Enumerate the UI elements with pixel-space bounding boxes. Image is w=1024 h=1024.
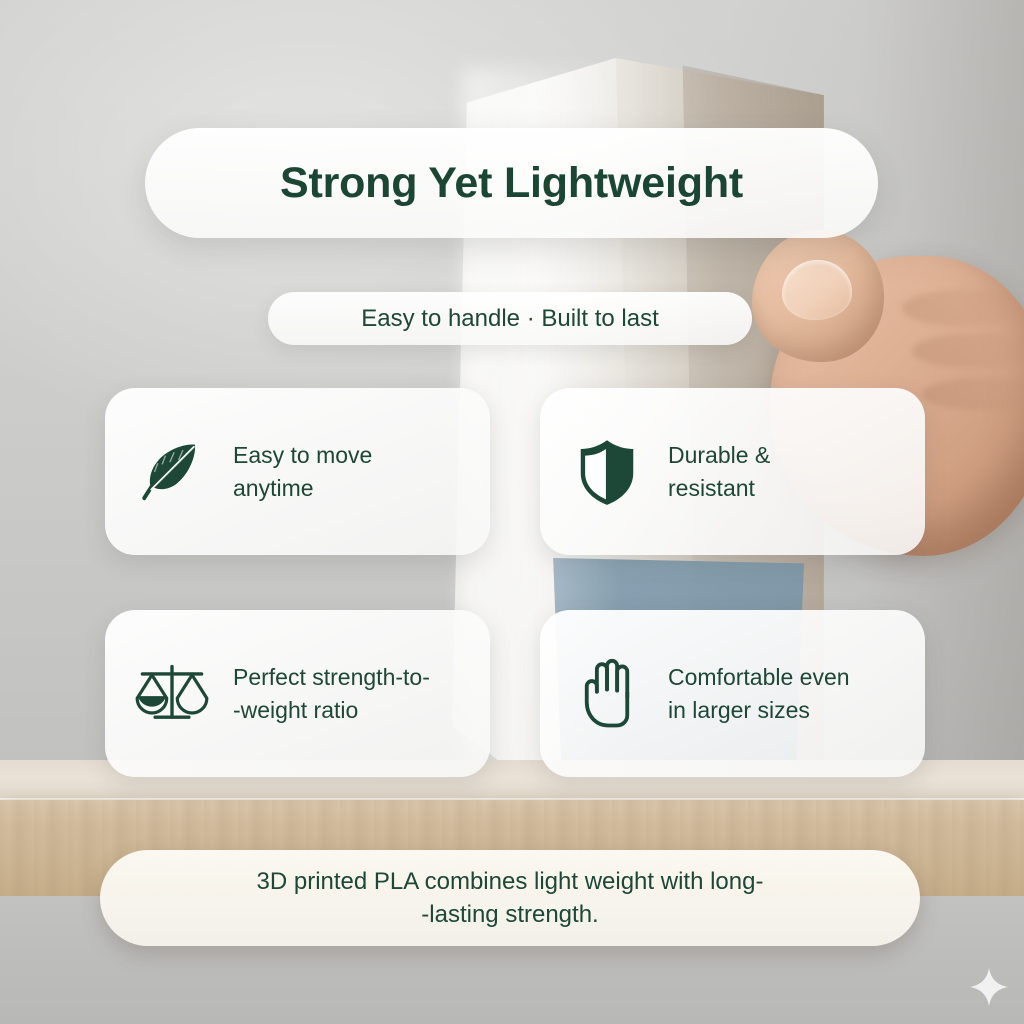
footer-banner: 3D printed PLA combines light weight wit…	[100, 850, 920, 946]
feature-card-easy-to-move[interactable]: Easy to move anytime	[105, 388, 490, 555]
feather-icon	[133, 433, 211, 511]
feature-card-grid: Easy to move anytime Durable & resistant	[105, 388, 925, 777]
footer-line2: -lasting strength.	[257, 898, 764, 931]
feature-label-line1: Comfortable even	[668, 661, 850, 694]
feature-label-line1: Easy to move	[233, 439, 372, 472]
feature-label-line2: anytime	[233, 472, 372, 505]
footer-text: 3D printed PLA combines light weight wit…	[215, 865, 806, 931]
poster-canvas: Strong Yet Lightweight Easy to handle · …	[0, 0, 1024, 1024]
feature-card-strength-to-weight[interactable]: Perfect strength-to- -weight ratio	[105, 610, 490, 777]
knuckle-crease-1	[902, 290, 1022, 326]
open-hand-icon	[568, 655, 646, 733]
feature-label-line1: Durable &	[668, 439, 770, 472]
feature-label-line1: Perfect strength-to-	[233, 661, 430, 694]
feature-card-label: Durable & resistant	[668, 439, 770, 504]
sparkle-icon	[968, 966, 1010, 1008]
feature-card-label: Perfect strength-to- -weight ratio	[233, 661, 430, 726]
shield-icon	[568, 433, 646, 511]
subtitle-banner: Easy to handle · Built to last	[268, 292, 752, 345]
feature-card-comfortable[interactable]: Comfortable even in larger sizes	[540, 610, 925, 777]
thumbnail	[782, 260, 852, 320]
feature-label-line2: in larger sizes	[668, 694, 850, 727]
title-banner: Strong Yet Lightweight	[145, 128, 878, 238]
page-subtitle: Easy to handle · Built to last	[361, 305, 659, 333]
thumb	[752, 230, 884, 362]
feature-card-label: Easy to move anytime	[233, 439, 372, 504]
footer-line1: 3D printed PLA combines light weight wit…	[257, 865, 764, 898]
feature-card-durable[interactable]: Durable & resistant	[540, 388, 925, 555]
feature-label-line2: -weight ratio	[233, 694, 430, 727]
feature-card-label: Comfortable even in larger sizes	[668, 661, 850, 726]
page-title: Strong Yet Lightweight	[280, 159, 743, 208]
feature-label-line2: resistant	[668, 472, 770, 505]
balance-scale-icon	[133, 655, 211, 733]
knuckle-crease-2	[912, 334, 1024, 368]
